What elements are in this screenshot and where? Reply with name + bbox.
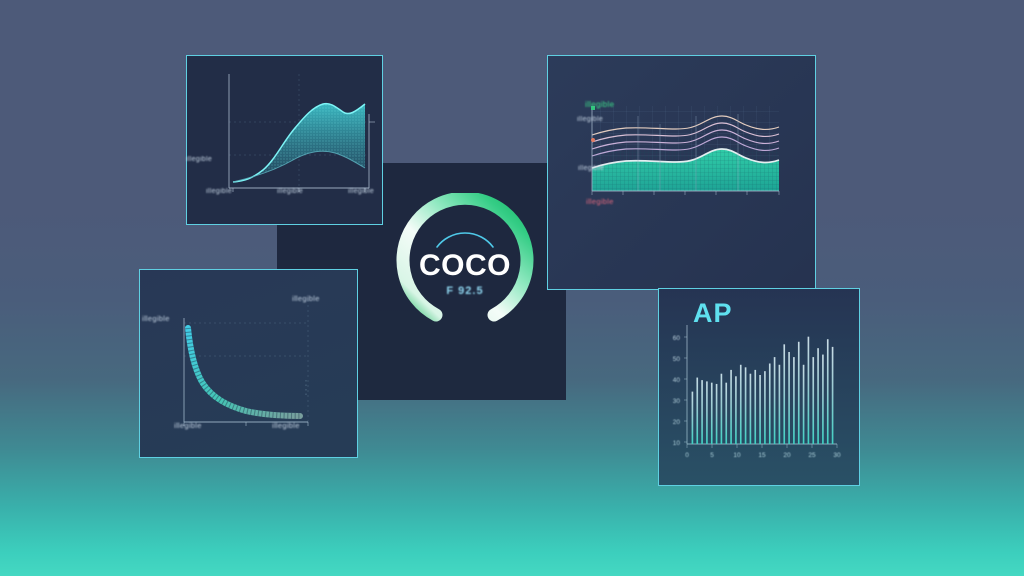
axis-lines [184, 318, 308, 422]
gauge-subtitle: F 92.5 [391, 285, 539, 297]
ap-bar [769, 364, 771, 445]
ap-x-tick: 20 [783, 452, 791, 459]
decay-curve [188, 328, 300, 416]
ap-bar [696, 378, 698, 444]
ap-y-tick: 30 [673, 398, 681, 405]
ap-y-tick: 20 [673, 419, 681, 426]
ap-bar [745, 367, 747, 444]
gauge-inner-arc [437, 233, 493, 247]
growth-chart-canvas [187, 56, 382, 224]
coco-gauge[interactable]: COCO F 92.5 [391, 193, 539, 328]
decay-y-axis-label: illegible [142, 314, 170, 323]
grid-lines [184, 300, 308, 422]
growth-x-tick-1: illegible [277, 188, 303, 195]
ap-bar [788, 352, 790, 444]
ap-bar [716, 384, 718, 444]
ap-y-tick-labels: 605040302010 [673, 335, 681, 447]
ap-x-tick-labels: 051015202530 [685, 452, 841, 459]
ap-x-tick: 5 [710, 452, 714, 459]
decay-x-tick-0: illegible [174, 421, 202, 430]
x-tick-marks [687, 444, 837, 448]
ap-bar [817, 348, 819, 444]
axis-lines [687, 325, 837, 444]
ap-y-tick: 10 [673, 440, 681, 447]
x-tick-marks [592, 191, 779, 195]
card-growth-area-chart[interactable] [186, 55, 383, 225]
card-ap-bar-chart[interactable]: 605040302010 051015202530 [658, 288, 860, 486]
band-y-tick-1: illegible [578, 165, 604, 172]
growth-y-axis-label: illegible [186, 156, 212, 163]
decay-chart-svg [140, 270, 358, 458]
ap-chart-title: AP [693, 298, 733, 329]
ap-bar [793, 357, 795, 444]
ap-x-tick: 15 [758, 452, 766, 459]
ap-chart-canvas: 605040302010 051015202530 [659, 289, 859, 485]
decay-x-tick-1: illegible [272, 421, 300, 430]
ap-bar [725, 383, 727, 444]
ap-bar [735, 376, 737, 444]
ap-bar [754, 370, 756, 444]
ap-bar [701, 380, 703, 444]
band-fill-mesh [592, 148, 779, 191]
growth-area-svg [187, 56, 383, 225]
growth-x-tick-0: illegible [206, 188, 232, 195]
band-red-label: illegible [586, 197, 614, 206]
gauge-title: COCO [391, 249, 539, 283]
ap-bar [803, 365, 805, 444]
ap-bar [764, 371, 766, 444]
ap-bar [750, 374, 752, 444]
ap-bar [706, 381, 708, 444]
ap-bar [692, 392, 694, 444]
decay-curve-dots [188, 328, 300, 416]
ap-bar [822, 355, 824, 444]
ap-bar [783, 344, 785, 444]
growth-x-tick-2: illegible [348, 188, 374, 195]
ap-x-tick: 30 [833, 452, 841, 459]
ap-bar [759, 375, 761, 444]
ap-bar [774, 357, 776, 444]
band-y-tick-0: illegible [577, 116, 603, 123]
ap-bar [808, 337, 810, 444]
ap-bar [798, 342, 800, 444]
ap-x-tick: 0 [685, 452, 689, 459]
ap-bar [721, 374, 723, 444]
ap-bar-group [692, 337, 834, 444]
ap-bar [779, 365, 781, 444]
card-stacked-band-chart[interactable] [547, 55, 816, 290]
ap-bar [827, 339, 829, 444]
ap-x-tick: 10 [733, 452, 741, 459]
band-chart-svg [548, 56, 816, 290]
ap-bar-svg: 605040302010 051015202530 [659, 289, 860, 486]
decay-chart-canvas [140, 270, 357, 457]
ap-bar [812, 357, 814, 444]
ap-bar [832, 347, 834, 444]
ap-bar [730, 370, 732, 444]
ap-bar [740, 365, 742, 444]
decay-top-label: illegible [292, 294, 320, 303]
band-legend-label: illegible [585, 100, 614, 109]
ap-y-tick: 60 [673, 335, 681, 342]
card-decay-curve-chart[interactable] [139, 269, 358, 458]
ap-x-tick: 25 [808, 452, 816, 459]
series-start-dot [591, 138, 595, 142]
ap-y-tick: 40 [673, 377, 681, 384]
band-chart-canvas [548, 56, 815, 289]
ap-bar [711, 383, 713, 444]
ap-y-tick: 50 [673, 356, 681, 363]
y-tick-marks [684, 337, 687, 442]
